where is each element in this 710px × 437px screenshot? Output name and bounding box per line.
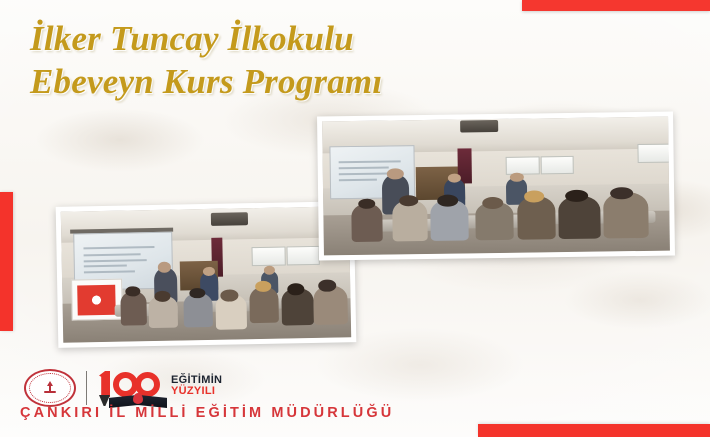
institution-name: ÇANKIRI İL MİLLİ EĞİTİM MÜDÜRLÜĞÜ — [20, 405, 394, 421]
logo-word-yuzyili: YÜZYILI — [171, 386, 222, 397]
window — [541, 155, 574, 174]
screen-text-line — [84, 270, 135, 273]
accent-bar-left — [0, 192, 13, 331]
footer-logos: EĞİTİMİN YÜZYILI — [24, 368, 193, 408]
scene-wide — [61, 206, 351, 343]
projector-icon — [460, 120, 498, 133]
window — [506, 156, 539, 175]
screen-text-line — [339, 172, 394, 175]
audience-figure — [249, 286, 278, 323]
hundredth-year-logo: EĞİTİMİN YÜZYILI — [97, 368, 193, 408]
screen-text-line — [84, 265, 127, 268]
audience-figure — [517, 196, 556, 239]
accent-bar-bottom-right — [478, 424, 710, 437]
audience-head — [189, 288, 205, 299]
photo-seminar-wide-image — [61, 206, 351, 343]
window — [252, 247, 286, 267]
audience-head — [318, 280, 335, 292]
screen-text-line — [84, 246, 155, 249]
window — [286, 246, 320, 266]
footer-divider — [86, 371, 87, 405]
photo-seminar-wide — [56, 201, 357, 348]
projector-icon — [211, 212, 249, 226]
assistant-head — [203, 266, 215, 275]
title-line-1: İlker Tuncay İlkokulu — [30, 18, 590, 61]
audience-head — [610, 187, 633, 199]
audience-head — [287, 283, 304, 295]
audience-head — [154, 291, 170, 302]
screen-text-line — [339, 160, 400, 163]
scene-close — [322, 117, 670, 256]
logo-wordmark: EĞİTİMİN YÜZYILI — [171, 375, 222, 397]
staff-head — [510, 172, 524, 182]
poster-graphic — [78, 285, 116, 316]
meb-emblem-icon — [24, 369, 76, 407]
accent-bar-top-right — [522, 0, 710, 11]
audience-figure — [558, 195, 600, 238]
photo-seminar-close-image — [322, 117, 670, 256]
screen-text-line — [339, 166, 389, 169]
flame-icon — [133, 393, 143, 404]
audience-head — [399, 195, 418, 206]
audience-head — [221, 290, 238, 302]
screen-text-line — [84, 259, 147, 262]
audience-figure — [392, 200, 427, 241]
poster-canvas: İlker Tuncay İlkokulu Ebeveyn Kurs Progr… — [0, 0, 710, 437]
poster-title: İlker Tuncay İlkokulu Ebeveyn Kurs Progr… — [30, 18, 590, 103]
meb-torch-icon — [40, 379, 60, 397]
screen-text-line — [339, 179, 377, 182]
audience-figure — [120, 291, 147, 326]
audience-head — [255, 281, 271, 292]
audience-head — [482, 197, 503, 209]
audience-figure — [351, 204, 383, 242]
audience-figure — [603, 192, 649, 238]
window — [637, 143, 670, 163]
logo-digit-one — [99, 371, 110, 397]
screen-text-line — [84, 253, 141, 256]
title-line-2: Ebeveyn Kurs Programı — [30, 61, 590, 104]
photo-seminar-close — [317, 112, 675, 261]
staff-head — [263, 265, 275, 274]
